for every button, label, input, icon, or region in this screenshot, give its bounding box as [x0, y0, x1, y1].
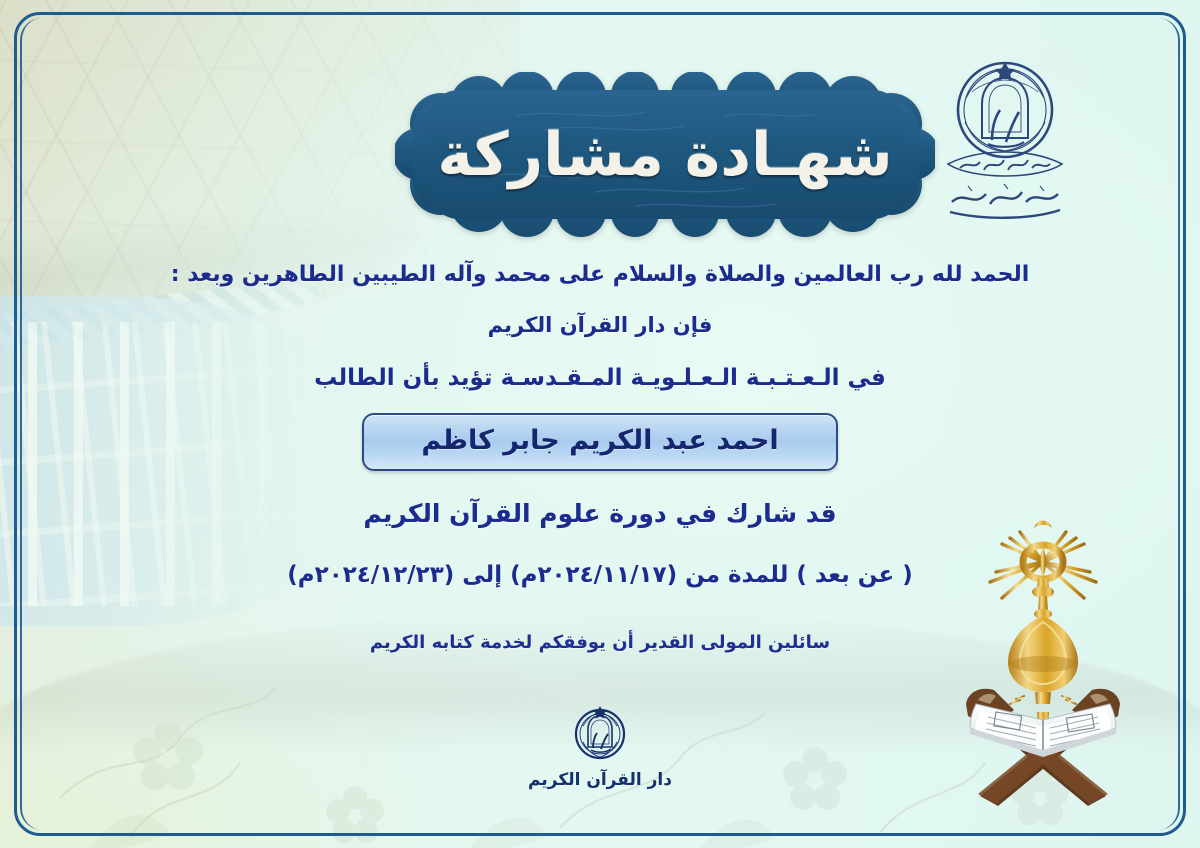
praise-line: الحمد لله رب العالمين والصلاة والسلام عل… [0, 262, 1200, 287]
certificate-page: شهـادة مشاركة الحمد لله رب العالمين والص… [0, 0, 1200, 848]
certificate-title: شهـادة مشاركة [395, 72, 935, 237]
student-name-field[interactable]: احمد عبد الكريم جابر كاظم [362, 413, 838, 471]
authority-line: في الـعـتـبـة الـعـلـويـة المـقـدسـة تؤي… [0, 365, 1200, 391]
title-banner: شهـادة مشاركة [395, 72, 935, 237]
circular-seal-icon [569, 702, 631, 764]
open-quran-on-rehal-icon [938, 514, 1148, 814]
institution-emblem-icon [920, 52, 1090, 227]
institution-line: فإن دار القرآن الكريم [0, 313, 1200, 337]
